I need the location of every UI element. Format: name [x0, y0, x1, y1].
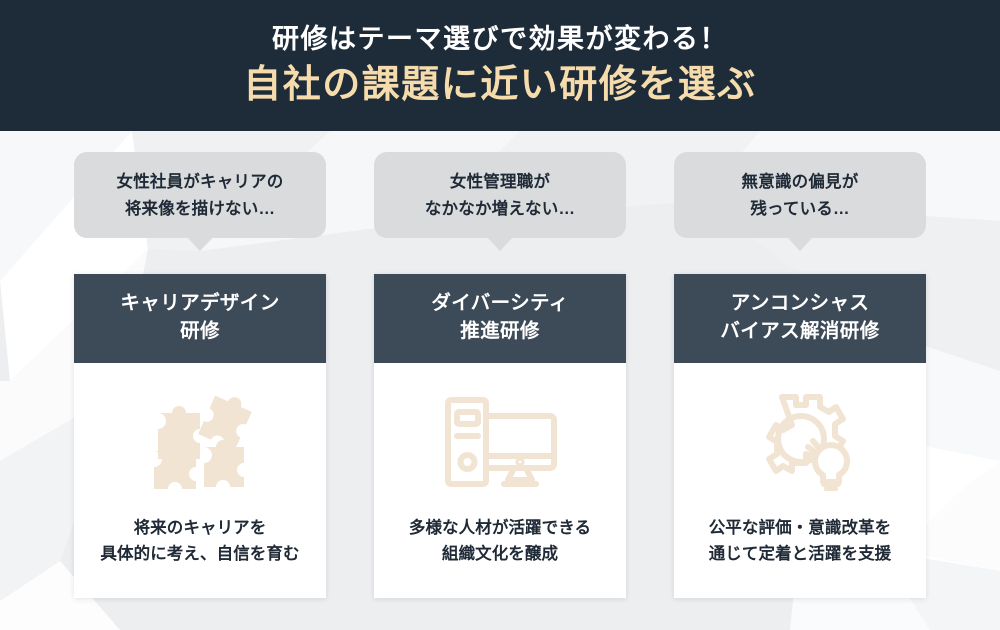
bubble-line-1: 女性管理職が: [384, 169, 616, 196]
card-description: 多様な人材が活躍できる 組織文化を醸成: [409, 515, 591, 568]
card-header: アンコンシャス バイアス解消研修: [674, 274, 926, 362]
card-desc-line-2: 具体的に考え、自信を育む: [100, 541, 299, 567]
card-icon-wrap: [744, 389, 856, 493]
card-title-line-1: キャリアデザイン: [82, 290, 318, 318]
card-icon-wrap: [440, 389, 560, 493]
card-title-line-1: ダイバーシティ: [382, 290, 618, 318]
card-header: キャリアデザイン 研修: [74, 274, 326, 362]
bubble-line-2: 残っている…: [684, 196, 916, 223]
card-desc-line-1: 公平な評価・意識改革を: [709, 515, 892, 541]
card-description: 将来のキャリアを 具体的に考え、自信を育む: [100, 515, 299, 568]
bubble-line-2: 将来像を描けない…: [84, 196, 316, 223]
card-header: ダイバーシティ 推進研修: [374, 274, 626, 362]
training-columns: 女性社員がキャリアの 将来像を描けない… キャリアデザイン 研修: [0, 131, 1000, 630]
card-body: 公平な評価・意識改革を 通じて定着と活躍を支援: [674, 363, 926, 598]
training-card[interactable]: アンコンシャス バイアス解消研修: [674, 274, 926, 597]
gear-lightbulb-icon: [744, 391, 856, 491]
training-column-diversity: 女性管理職が なかなか増えない… ダイバーシティ 推進研修: [374, 152, 626, 598]
header-banner: 研修はテーマ選びで効果が変わる！ 自社の課題に近い研修を選ぶ: [0, 0, 1000, 131]
problem-bubble: 女性管理職が なかなか増えない…: [374, 152, 626, 238]
card-body: 将来のキャリアを 具体的に考え、自信を育む: [74, 363, 326, 598]
card-desc-line-1: 多様な人材が活躍できる: [409, 515, 591, 541]
card-title-line-2: バイアス解消研修: [682, 318, 918, 346]
puzzle-pieces-icon: [148, 391, 252, 491]
training-card[interactable]: キャリアデザイン 研修: [74, 274, 326, 597]
bubble-line-1: 女性社員がキャリアの: [84, 169, 316, 196]
card-body: 多様な人材が活躍できる 組織文化を醸成: [374, 363, 626, 598]
card-desc-line-2: 通じて定着と活躍を支援: [709, 541, 892, 567]
bubble-line-2: なかなか増えない…: [384, 196, 616, 223]
card-title-line-2: 研修: [82, 318, 318, 346]
card-icon-wrap: [148, 389, 252, 493]
card-title-line-2: 推進研修: [382, 318, 618, 346]
desktop-computer-icon: [440, 392, 560, 490]
card-title-line-1: アンコンシャス: [682, 290, 918, 318]
header-subtitle: 研修はテーマ選びで効果が変わる！: [272, 25, 728, 55]
training-card[interactable]: ダイバーシティ 推進研修: [374, 274, 626, 597]
problem-bubble: 無意識の偏見が 残っている…: [674, 152, 926, 238]
bubble-line-1: 無意識の偏見が: [684, 169, 916, 196]
card-description: 公平な評価・意識改革を 通じて定着と活躍を支援: [709, 515, 892, 568]
header-title: 自社の課題に近い研修を選ぶ: [243, 66, 757, 106]
card-desc-line-1: 将来のキャリアを: [100, 515, 299, 541]
training-column-unconscious-bias: 無意識の偏見が 残っている… アンコンシャス バイアス解消研修: [674, 152, 926, 598]
card-desc-line-2: 組織文化を醸成: [409, 541, 591, 567]
training-column-career-design: 女性社員がキャリアの 将来像を描けない… キャリアデザイン 研修: [74, 152, 326, 598]
problem-bubble: 女性社員がキャリアの 将来像を描けない…: [74, 152, 326, 238]
